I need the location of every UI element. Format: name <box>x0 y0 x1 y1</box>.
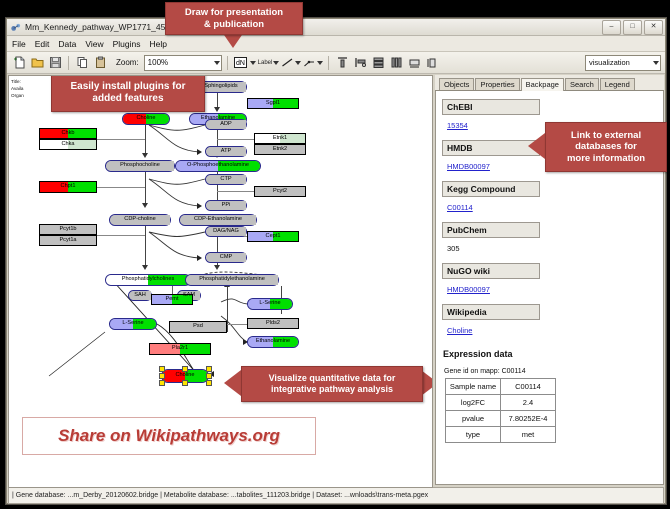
tab-objects[interactable]: Objects <box>439 78 474 90</box>
app-icon <box>10 22 21 33</box>
arrow-down-icon <box>142 153 148 158</box>
close-button[interactable]: ✕ <box>644 20 663 35</box>
gene-node-psd[interactable]: Psd <box>169 321 227 333</box>
new-file-icon[interactable] <box>11 55 27 71</box>
selection-handle[interactable] <box>159 366 165 372</box>
node-fill-segment <box>185 370 208 382</box>
datanode-tool[interactable]: dN <box>233 55 256 71</box>
table-row: pvalue 7.80252E-4 <box>446 411 556 427</box>
maximize-button[interactable]: □ <box>623 20 642 35</box>
canvas-available-label: Availa <box>11 86 23 91</box>
db-header-kegg: Kegg Compound <box>442 181 540 197</box>
db-link-wikipedia[interactable]: Choline <box>447 326 472 335</box>
node-fill-segment <box>68 140 96 149</box>
metabolite-node-adp[interactable]: ADP <box>205 119 247 130</box>
metabolite-node-ppi[interactable]: PPi <box>205 200 247 211</box>
stack-vertical-icon[interactable] <box>370 55 386 71</box>
chevron-down-icon[interactable] <box>273 61 279 65</box>
node-fill-segment <box>40 236 96 245</box>
paste-icon[interactable] <box>92 55 108 71</box>
edge-line <box>217 191 255 192</box>
node-fill-segment <box>106 275 148 285</box>
metabolite-node-cdp-ethanolamine[interactable]: CDP-Ethanolamine <box>179 214 257 226</box>
node-fill-segment <box>270 299 292 309</box>
expr-key-log2fc: log2FC <box>446 395 501 411</box>
node-fill-segment <box>129 291 151 300</box>
callout-visualize-left-arrow-icon <box>224 370 241 396</box>
node-fill-segment <box>110 215 170 225</box>
node-fill-segment <box>180 344 210 354</box>
metabolite-node-o-phosphoethanolamine[interactable]: O-Phosphoethanolamine <box>175 160 261 172</box>
gene-id-line: Gene id on mapp: C00114 <box>444 368 663 375</box>
node-fill-segment <box>206 253 246 262</box>
menu-item-plugins[interactable]: Plugins <box>113 39 141 49</box>
node-fill-segment <box>172 295 192 304</box>
distribute-icon[interactable] <box>388 55 404 71</box>
datanode-icon[interactable]: dN <box>233 55 249 71</box>
toolbar-separator <box>227 56 228 70</box>
minimize-button[interactable]: – <box>602 20 621 35</box>
edge-line <box>97 187 145 188</box>
callout-draw-text: Draw for presentation & publication <box>179 4 289 33</box>
menu-item-help[interactable]: Help <box>150 39 167 49</box>
tab-backpage[interactable]: Backpage <box>521 78 564 91</box>
node-fill-segment <box>255 187 305 196</box>
expr-key-type: type <box>446 427 501 443</box>
callout-share-text: Share on Wikipathways.org <box>58 426 280 446</box>
selection-handle[interactable] <box>182 380 188 386</box>
label-icon[interactable]: Label <box>258 60 273 66</box>
metabolite-node-phosphatidylcholines[interactable]: Phosphatidylcholines <box>105 274 191 286</box>
edge-line <box>145 125 146 155</box>
metabolite-node-phosphocholine[interactable]: Phosphocholine <box>105 160 175 172</box>
window-controls: – □ ✕ <box>602 20 663 35</box>
db-link-nugo[interactable]: HMDB00097 <box>447 285 490 294</box>
arrow-down-icon <box>142 265 148 270</box>
callout-visualize-text: Visualize quantitative data for integrat… <box>263 370 402 398</box>
table-row: Sample name C00114 <box>446 379 556 395</box>
db-header-chebi: ChEBI <box>442 99 540 115</box>
save-icon[interactable] <box>47 55 63 71</box>
node-fill-segment <box>273 232 298 241</box>
node-fill-segment <box>68 182 96 192</box>
edge-line <box>145 226 146 267</box>
arrow-right-icon <box>197 149 202 155</box>
node-fill-segment <box>206 201 246 210</box>
chevron-down-icon[interactable] <box>214 61 220 65</box>
metabolite-node-phosphatidylethanolamine[interactable]: Phosphatidylethanolamine <box>185 274 279 286</box>
selection-handle[interactable] <box>206 366 212 372</box>
callout-links-arrow-icon <box>528 133 545 159</box>
title-bar: Mm_Kennedy_pathway_WP1771_45176.gpml – □… <box>7 19 665 36</box>
gene-node-plds2[interactable]: Plds2 <box>247 318 299 329</box>
anchor-line-tool[interactable] <box>303 57 323 68</box>
gene-node-pcyt2[interactable]: Pcyt2 <box>254 186 306 197</box>
node-fill-segment <box>248 319 298 328</box>
tab-search[interactable]: Search <box>565 78 599 90</box>
metabolite-node-cdp-choline[interactable]: CDP-choline <box>109 214 171 226</box>
edge-line <box>217 139 255 140</box>
db-link-hmdb[interactable]: HMDB00097 <box>447 162 490 171</box>
menu-item-view[interactable]: View <box>85 39 103 49</box>
gene-node-cept1[interactable]: Cept1 <box>247 231 299 242</box>
metabolite-node-atp[interactable]: ATP <box>205 146 247 157</box>
line-tool[interactable] <box>281 57 301 68</box>
arrow-right-icon <box>197 255 202 261</box>
gene-node-pemt[interactable]: Pemt <box>151 294 193 305</box>
align-top-icon[interactable] <box>334 55 350 71</box>
gene-node-chkb[interactable]: Chkb <box>39 128 97 139</box>
gene-node-etnk1[interactable]: Etnk1 <box>254 133 306 144</box>
status-bar-text: | Gene database: ...m_Derby_20120602.bri… <box>12 492 428 499</box>
node-fill-segment <box>248 299 270 309</box>
tab-legend[interactable]: Legend <box>600 78 635 90</box>
expression-data-heading: Expression data <box>443 349 663 359</box>
node-fill-segment <box>180 215 256 225</box>
db-link-kegg[interactable]: C00114 <box>447 203 473 212</box>
expr-val-pvalue: 7.80252E-4 <box>501 411 556 427</box>
arrow-down-icon <box>214 265 220 270</box>
node-fill-segment <box>186 275 278 285</box>
selection-handle[interactable] <box>159 373 165 379</box>
table-row: log2FC 2.4 <box>446 395 556 411</box>
metabolite-node-choline[interactable]: Choline <box>122 113 170 125</box>
copy-icon[interactable] <box>74 55 90 71</box>
selection-handle[interactable] <box>206 373 212 379</box>
db-header-pubchem: PubChem <box>442 222 540 238</box>
metabolite-node-l-serine[interactable]: L-Serine <box>247 298 293 310</box>
metabolite-node-l-serine[interactable]: L-Serine <box>109 318 157 330</box>
metabolite-node-ethanolamine[interactable]: Ethanolamine <box>247 336 299 348</box>
toolbar-separator <box>68 56 69 70</box>
node-fill-segment <box>176 161 218 171</box>
visualization-value: visualization <box>589 58 630 67</box>
node-fill-segment <box>150 344 180 354</box>
callout-share: Share on Wikipathways.org <box>22 417 316 455</box>
toolbar-separator <box>328 56 329 70</box>
align-left-icon[interactable] <box>352 55 368 71</box>
open-folder-icon[interactable] <box>29 55 45 71</box>
metabolite-node-sah[interactable]: SAH <box>128 290 152 301</box>
selection-handle[interactable] <box>159 380 165 386</box>
chevron-down-icon[interactable] <box>317 61 323 65</box>
zoom-combobox[interactable]: 100% <box>144 55 222 71</box>
visualization-combobox[interactable]: visualization <box>585 55 661 71</box>
arrow-down-icon <box>214 107 220 112</box>
node-fill-segment <box>133 319 156 329</box>
node-fill-segment <box>68 129 96 138</box>
svg-text:dN: dN <box>236 60 245 67</box>
gene-node-chka[interactable]: Chka <box>39 139 97 150</box>
metabolite-node-cmp[interactable]: CMP <box>205 252 247 263</box>
metabolite-node-ctp[interactable]: CTP <box>205 174 247 185</box>
canvas-title-label: Title: <box>11 79 21 84</box>
expr-val-log2fc: 2.4 <box>501 395 556 411</box>
callout-visualize: Visualize quantitative data for integrat… <box>241 366 423 402</box>
node-fill-segment <box>123 114 146 124</box>
menu-bar: File Edit Data View Plugins Help <box>7 36 665 52</box>
node-fill-segment <box>152 295 172 304</box>
node-fill-segment <box>206 147 246 156</box>
gene-node-sgpl1[interactable]: Sgpl1 <box>247 98 299 109</box>
node-fill-segment <box>40 129 68 138</box>
node-fill-segment <box>206 175 246 184</box>
expr-val-type: met <box>501 427 556 443</box>
side-panel-tabs: Objects Properties Backpage Search Legen… <box>435 75 664 91</box>
node-fill-segment <box>106 161 174 171</box>
label-tool[interactable]: Label <box>258 60 280 66</box>
arrow-right-icon <box>197 203 202 209</box>
edge-line <box>97 235 145 236</box>
node-fill-segment <box>206 227 246 236</box>
size-width-icon[interactable] <box>406 55 422 71</box>
node-fill-segment <box>170 322 226 332</box>
zoom-label: Zoom: <box>116 58 139 67</box>
gene-node-pcyt1a[interactable]: Pcyt1a <box>39 235 97 246</box>
node-fill-segment <box>255 134 280 143</box>
node-fill-segment <box>218 161 260 171</box>
node-fill-segment <box>248 99 273 108</box>
table-row: type met <box>446 427 556 443</box>
anchor-line-icon[interactable] <box>303 57 316 68</box>
callout-plugins: Easily install plugins for added feature… <box>51 75 205 112</box>
callout-plugins-text: Easily install plugins for added feature… <box>64 78 191 108</box>
expression-table: Sample name C00114 log2FC 2.4 pvalue 7.8… <box>445 378 556 443</box>
gene-node-etnk2[interactable]: Etnk2 <box>254 144 306 155</box>
edge-line <box>97 139 145 140</box>
expr-key-sample: Sample name <box>446 379 501 395</box>
callout-draw: Draw for presentation & publication <box>165 2 303 35</box>
db-header-hmdb: HMDB <box>442 140 540 156</box>
zoom-value: 100% <box>148 58 168 67</box>
gene-node-chpt1[interactable]: Chpt1 <box>39 181 97 193</box>
status-bar: | Gene database: ...m_Derby_20120602.bri… <box>8 487 664 504</box>
toolbar: Zoom: 100% dN Label <box>7 52 665 74</box>
expr-key-pvalue: pvalue <box>446 411 501 427</box>
node-fill-segment <box>40 225 96 234</box>
node-fill-segment <box>110 319 133 329</box>
selection-handle[interactable] <box>182 366 188 372</box>
edge-line <box>145 172 146 205</box>
chevron-down-icon[interactable] <box>295 61 301 65</box>
gene-node-pla2r1[interactable]: Pla2r1 <box>149 343 211 355</box>
menu-item-data[interactable]: Data <box>58 39 76 49</box>
arrow-down-icon <box>142 203 148 208</box>
node-fill-segment <box>146 114 169 124</box>
tab-properties[interactable]: Properties <box>475 78 519 90</box>
node-fill-segment <box>40 140 68 149</box>
db-value-pubchem: 305 <box>447 244 460 253</box>
expr-val-sample: C00114 <box>501 379 556 395</box>
callout-links: Link to external databases for more info… <box>545 122 667 172</box>
gene-node-pcyt1b[interactable]: Pcyt1b <box>39 224 97 235</box>
node-fill-segment <box>248 337 273 347</box>
node-fill-segment <box>280 134 305 143</box>
db-header-wikipedia: Wikipedia <box>442 304 540 320</box>
chevron-down-icon[interactable] <box>653 61 659 65</box>
size-height-icon[interactable] <box>424 55 440 71</box>
db-link-chebi[interactable]: 15354 <box>447 121 468 130</box>
node-fill-segment <box>273 99 298 108</box>
db-header-nugo: NuGO wiki <box>442 263 540 279</box>
chevron-down-icon[interactable] <box>250 61 256 65</box>
node-fill-segment <box>273 337 298 347</box>
canvas-organism-label: Organ <box>11 93 24 98</box>
callout-links-text: Link to external databases for more info… <box>561 127 651 167</box>
node-fill-segment <box>40 182 68 192</box>
selection-handle[interactable] <box>206 380 212 386</box>
node-fill-segment <box>206 120 246 129</box>
menu-item-file[interactable]: File <box>12 39 26 49</box>
node-fill-segment <box>248 232 273 241</box>
metabolite-node-dag-nag[interactable]: DAG/NAG <box>205 226 247 237</box>
menu-item-edit[interactable]: Edit <box>35 39 50 49</box>
line-icon[interactable] <box>281 57 294 68</box>
node-fill-segment <box>148 275 190 285</box>
edge-line <box>227 286 228 332</box>
node-fill-segment <box>255 145 305 154</box>
